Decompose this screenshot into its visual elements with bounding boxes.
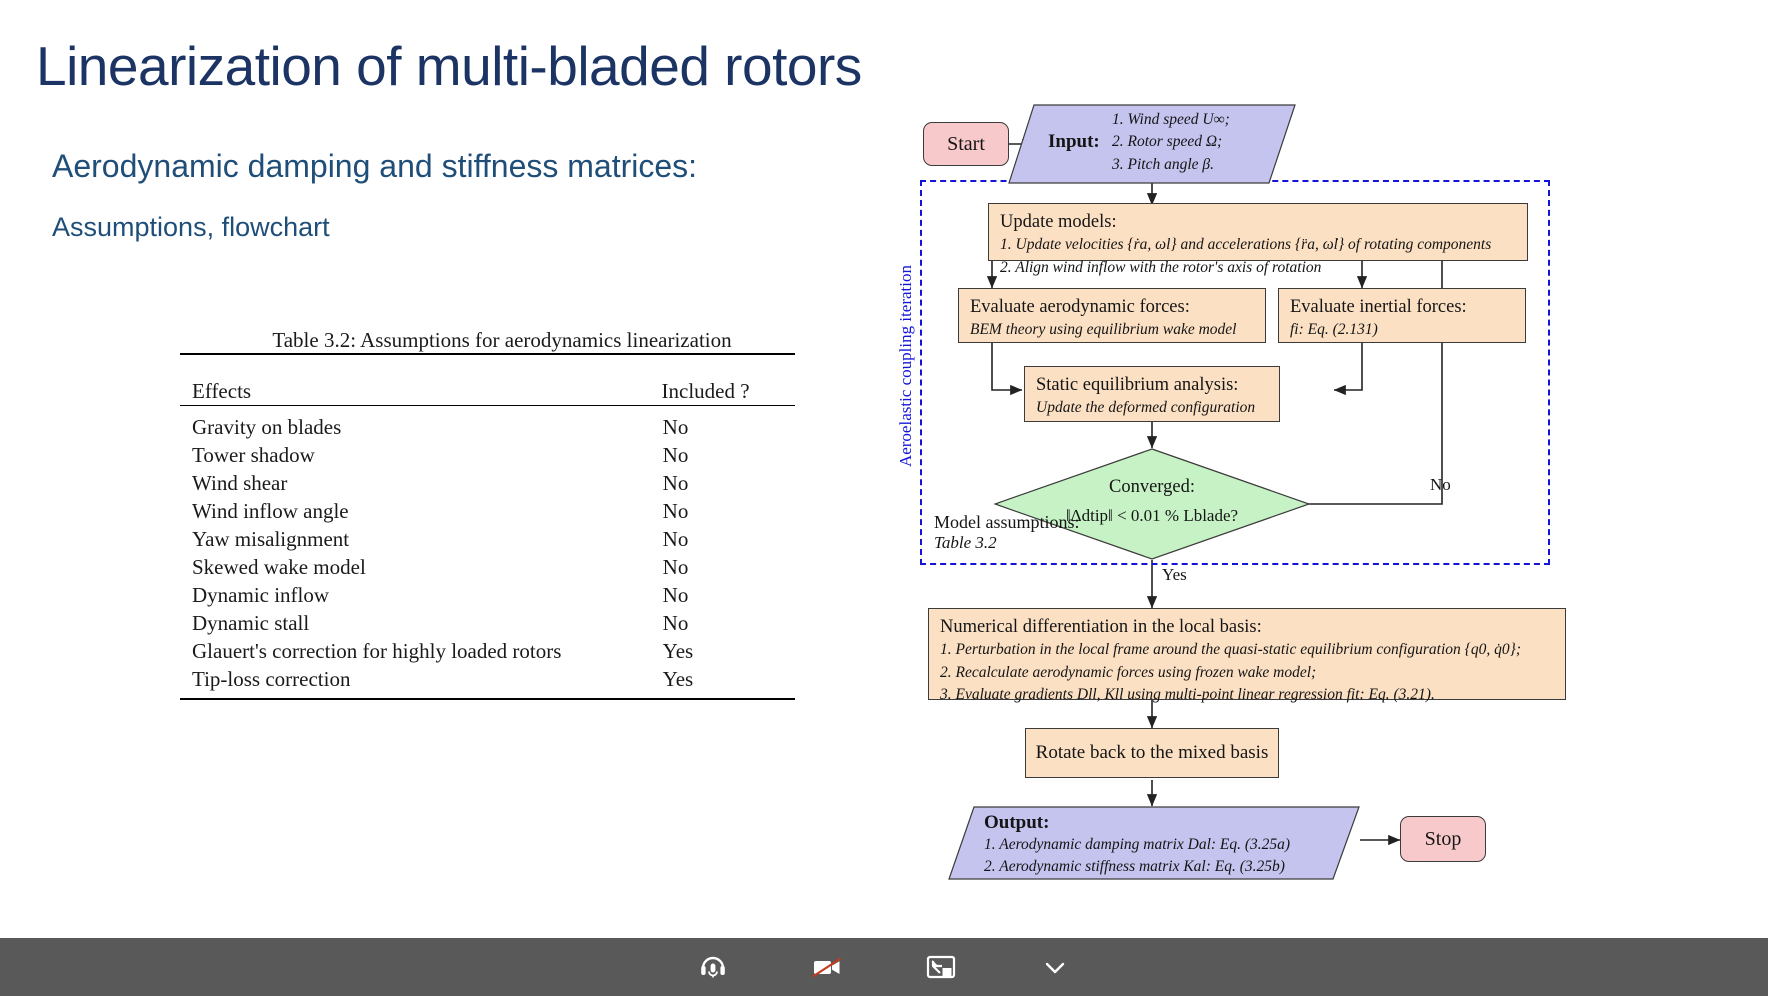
table-rule-bottom: [180, 698, 795, 700]
cell-effect: Dynamic inflow: [180, 581, 663, 609]
camera-off-icon-glyph: [811, 952, 843, 982]
subtitle-secondary: Assumptions, flowchart: [52, 212, 330, 243]
column-header-included: Included ?: [662, 377, 795, 405]
model-assumptions-line1: Model assumptions:: [934, 512, 1080, 533]
node-update-models[interactable]: Update models: 1. Update velocities {ṙa,…: [988, 203, 1528, 261]
numdiff-item: 2. Recalculate aerodynamic forces using …: [940, 662, 1554, 684]
output-item: 1. Aerodynamic damping matrix Dal: Eq. (…: [984, 834, 1290, 856]
node-static-subtitle: Update the deformed configuration: [1036, 397, 1268, 419]
subtitle-primary: Aerodynamic damping and stiffness matric…: [52, 148, 697, 185]
node-inertial-subtitle: fi: Eq. (2.131): [1290, 319, 1514, 341]
table-rule-top: [180, 353, 795, 355]
node-stop[interactable]: Stop: [1400, 816, 1486, 862]
loop-region-label: Aeroelastic coupling iteration: [896, 265, 916, 467]
node-converged-title: Converged:: [994, 477, 1310, 498]
presentation-slide: Linearization of multi-bladed rotors Aer…: [0, 0, 1768, 996]
input-item: 1. Wind speed U∞;: [1112, 109, 1230, 131]
share-screen-icon-glyph: [926, 952, 956, 982]
table-row: Wind inflow angle No: [180, 497, 795, 525]
node-output-label: Output:: [984, 812, 1290, 834]
numdiff-item: 1. Perturbation in the local frame aroun…: [940, 639, 1554, 661]
share-screen-icon[interactable]: [921, 947, 961, 987]
numdiff-item: 3. Evaluate gradients Dll, Kll using mul…: [940, 684, 1554, 706]
cell-included: No: [663, 525, 795, 553]
headset-icon[interactable]: [693, 947, 733, 987]
cell-included: No: [663, 469, 795, 497]
node-static-title: Static equilibrium analysis:: [1036, 374, 1268, 397]
table-header-row: Effects Included ?: [180, 377, 795, 405]
cell-effect: Yaw misalignment: [180, 525, 663, 553]
node-start[interactable]: Start: [923, 122, 1009, 166]
cell-effect: Dynamic stall: [180, 609, 663, 637]
table-row: Tip-loss correction Yes: [180, 665, 795, 693]
cell-effect: Gravity on blades: [180, 413, 663, 441]
column-header-effects: Effects: [180, 377, 662, 405]
node-input[interactable]: Input: 1. Wind speed U∞; 2. Rotor speed …: [1008, 104, 1296, 184]
table-row: Yaw misalignment No: [180, 525, 795, 553]
cell-included: No: [663, 441, 795, 469]
node-aerodynamic-forces[interactable]: Evaluate aerodynamic forces: BEM theory …: [958, 288, 1266, 343]
meeting-toolbar: [0, 938, 1768, 996]
cell-effect: Tower shadow: [180, 441, 663, 469]
assumptions-table: Effects Included ?: [180, 377, 795, 405]
node-aero-subtitle: BEM theory using equilibrium wake model: [970, 319, 1254, 341]
cell-included: No: [663, 581, 795, 609]
page-title: Linearization of multi-bladed rotors: [36, 34, 862, 98]
cell-included: Yes: [663, 665, 795, 693]
table-caption: Table 3.2: Assumptions for aerodynamics …: [204, 328, 800, 353]
edge-label-no: No: [1430, 475, 1451, 495]
table-row: Dynamic inflow No: [180, 581, 795, 609]
cell-included: No: [663, 413, 795, 441]
cell-included: No: [663, 553, 795, 581]
table-row: Dynamic stall No: [180, 609, 795, 637]
chevron-down-icon[interactable]: [1035, 947, 1075, 987]
table-row: Tower shadow No: [180, 441, 795, 469]
node-rotate-back[interactable]: Rotate back to the mixed basis: [1025, 728, 1279, 778]
node-output[interactable]: Output: 1. Aerodynamic damping matrix Da…: [948, 806, 1360, 880]
node-update-models-title: Update models:: [1000, 211, 1516, 234]
cell-effect: Skewed wake model: [180, 553, 663, 581]
node-input-label: Input:: [1048, 131, 1100, 153]
node-static-equilibrium[interactable]: Static equilibrium analysis: Update the …: [1024, 366, 1280, 422]
table-rule-mid: [180, 405, 795, 406]
cell-included: No: [663, 497, 795, 525]
node-start-label: Start: [947, 133, 985, 156]
cell-effect: Wind inflow angle: [180, 497, 663, 525]
input-item: 2. Rotor speed Ω;: [1112, 131, 1230, 153]
flowchart: Aeroelastic coupling iteration Start Inp…: [930, 100, 1760, 860]
camera-off-icon[interactable]: [807, 947, 847, 987]
table-row: Wind shear No: [180, 469, 795, 497]
cell-effect: Tip-loss correction: [180, 665, 663, 693]
cell-included: Yes: [663, 637, 795, 665]
table-row: Skewed wake model No: [180, 553, 795, 581]
update-models-item: 1. Update velocities {ṙa, ωl} and accele…: [1000, 234, 1516, 256]
update-models-item: 2. Align wind inflow with the rotor's ax…: [1000, 257, 1516, 279]
node-inertial-forces[interactable]: Evaluate inertial forces: fi: Eq. (2.131…: [1278, 288, 1526, 343]
cell-effect: Wind shear: [180, 469, 663, 497]
headset-icon-glyph: [698, 952, 728, 982]
node-numerical-differentiation[interactable]: Numerical differentiation in the local b…: [928, 608, 1566, 700]
output-item: 2. Aerodynamic stiffness matrix Kal: Eq.…: [984, 856, 1290, 878]
node-stop-label: Stop: [1425, 828, 1462, 851]
model-assumptions-line2: Table 3.2: [934, 533, 1080, 553]
table-row: Glauert's correction for highly loaded r…: [180, 637, 795, 665]
edge-label-yes: Yes: [1162, 565, 1187, 585]
assumptions-table-body: Gravity on blades No Tower shadow No Win…: [180, 413, 795, 693]
assumptions-table-block: Table 3.2: Assumptions for aerodynamics …: [180, 328, 800, 700]
model-assumptions-note: Model assumptions: Table 3.2: [934, 512, 1080, 553]
table-row: Gravity on blades No: [180, 413, 795, 441]
node-rotate-back-label: Rotate back to the mixed basis: [1036, 742, 1269, 764]
input-item: 3. Pitch angle β.: [1112, 154, 1230, 176]
node-inertial-title: Evaluate inertial forces:: [1290, 296, 1514, 319]
cell-effect: Glauert's correction for highly loaded r…: [180, 637, 663, 665]
chevron-down-icon-glyph: [1040, 952, 1070, 982]
node-numdiff-title: Numerical differentiation in the local b…: [940, 616, 1554, 639]
cell-included: No: [663, 609, 795, 637]
node-aero-title: Evaluate aerodynamic forces:: [970, 296, 1254, 319]
